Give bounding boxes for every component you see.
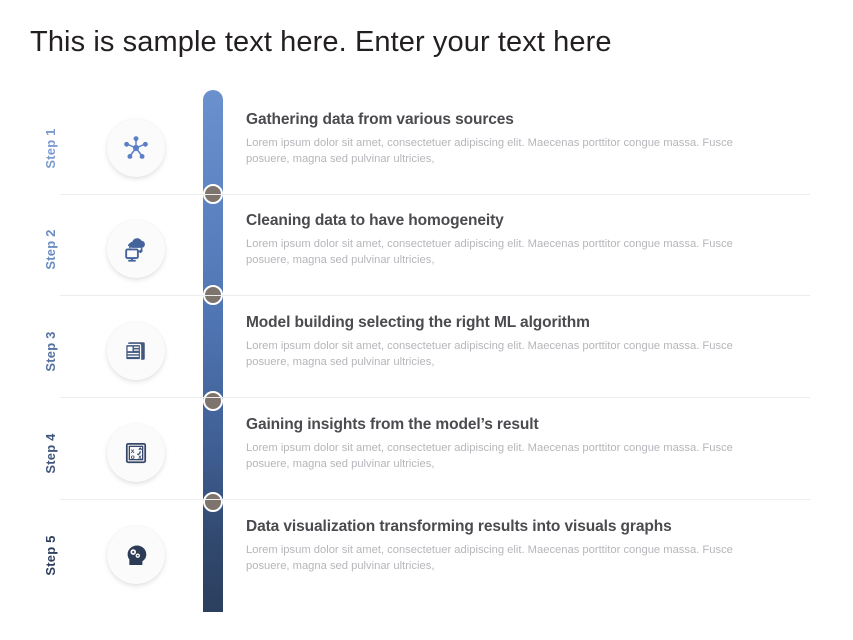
step-icon-3[interactable] (107, 322, 165, 380)
step-heading-1: Gathering data from various sources (246, 111, 806, 129)
step-row-1[interactable]: Step 1 (0, 97, 853, 198)
svg-text:o: o (131, 454, 135, 461)
step-body-1: Lorem ipsum dolor sit amet, consectetuer… (246, 136, 766, 168)
step-label-3: Step 3 (43, 301, 58, 402)
step-label-2: Step 2 (43, 199, 58, 300)
document-report-icon (122, 337, 150, 365)
step-label-5: Step 5 (43, 505, 58, 606)
strategy-board-icon: x o x (122, 439, 150, 467)
step-body-3: Lorem ipsum dolor sit amet, consectetuer… (246, 339, 766, 371)
step-content-4: Gaining insights from the model’s result… (246, 416, 806, 473)
head-gears-icon (122, 541, 151, 570)
step-body-2: Lorem ipsum dolor sit amet, consectetuer… (246, 237, 766, 269)
step-content-1: Gathering data from various sources Lore… (246, 111, 806, 168)
step-row-2[interactable]: Step 2 Cleaning data to have homogeneity… (0, 198, 853, 299)
step-content-2: Cleaning data to have homogeneity Lorem … (246, 212, 806, 269)
network-hub-icon (121, 133, 151, 163)
step-label-1: Step 1 (43, 98, 58, 199)
step-row-5[interactable]: Step 5 Data visualization transforming r… (0, 504, 853, 605)
step-icon-2[interactable] (107, 220, 165, 278)
step-body-5: Lorem ipsum dolor sit amet, consectetuer… (246, 543, 766, 575)
step-row-4[interactable]: Step 4 x o x Gaining insights from the m… (0, 402, 853, 503)
row-separator-3 (60, 397, 810, 398)
row-separator-1 (60, 194, 810, 195)
step-heading-5: Data visualization transforming results … (246, 518, 806, 536)
step-row-3[interactable]: Step 3 Model building selecting the righ… (0, 300, 853, 401)
step-icon-4[interactable]: x o x (107, 424, 165, 482)
step-content-3: Model building selecting the right ML al… (246, 314, 806, 371)
step-heading-2: Cleaning data to have homogeneity (246, 212, 806, 230)
cloud-sync-monitor-icon (121, 234, 151, 264)
row-separator-4 (60, 499, 810, 500)
step-content-5: Data visualization transforming results … (246, 518, 806, 575)
step-icon-5[interactable] (107, 526, 165, 584)
step-body-4: Lorem ipsum dolor sit amet, consectetuer… (246, 441, 766, 473)
step-heading-3: Model building selecting the right ML al… (246, 314, 806, 332)
step-heading-4: Gaining insights from the model’s result (246, 416, 806, 434)
step-icon-1[interactable] (107, 119, 165, 177)
step-label-4: Step 4 (43, 403, 58, 504)
row-separator-2 (60, 295, 810, 296)
slide-canvas: This is sample text here. Enter your tex… (0, 0, 853, 640)
page-title: This is sample text here. Enter your tex… (30, 26, 612, 59)
